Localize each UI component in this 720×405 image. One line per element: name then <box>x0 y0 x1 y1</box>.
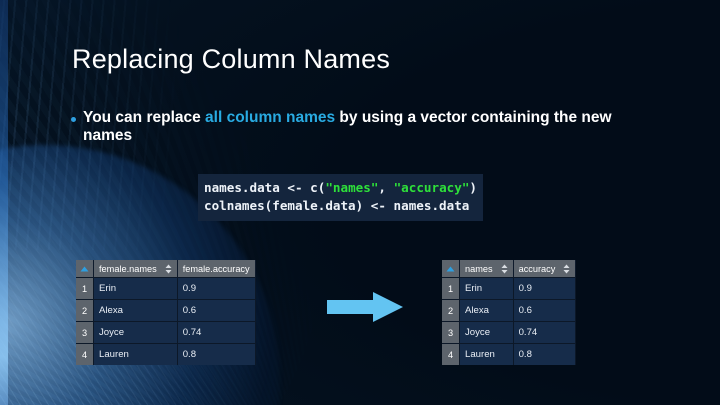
table-header-row: female.names female.accuracy <box>76 260 255 278</box>
cell-accuracy: 0.74 <box>513 322 576 344</box>
column-header-accuracy[interactable]: female.accuracy <box>177 260 255 278</box>
table-corner-sort-cell[interactable] <box>442 260 460 278</box>
data-table-after: names accuracy <box>442 260 576 365</box>
row-number: 2 <box>76 300 94 322</box>
row-number: 2 <box>442 300 460 322</box>
column-header-names[interactable]: names <box>460 260 514 278</box>
code-l1-string-names: "names" <box>325 180 378 195</box>
row-number: 4 <box>442 344 460 366</box>
bullet-text-highlight: all column names <box>205 109 335 126</box>
code-l1-close-paren: ) <box>469 180 477 195</box>
cell-accuracy: 0.74 <box>177 322 255 344</box>
cell-name: Erin <box>460 278 514 300</box>
cell-name: Lauren <box>94 344 178 366</box>
column-header-names-label: female.names <box>99 264 157 274</box>
sort-toggle-icon[interactable] <box>165 264 172 274</box>
bullet-dot-icon <box>71 117 76 122</box>
cell-accuracy: 0.9 <box>513 278 576 300</box>
table-corner-sort-cell[interactable] <box>76 260 94 278</box>
row-number: 3 <box>442 322 460 344</box>
slide-canvas: Replacing Column Names You can replace a… <box>0 0 720 405</box>
table-row[interactable]: 3 Joyce 0.74 <box>76 322 255 344</box>
cell-name: Alexa <box>94 300 178 322</box>
table-row[interactable]: 4 Lauren 0.8 <box>76 344 255 366</box>
cell-name: Joyce <box>460 322 514 344</box>
table-row[interactable]: 2 Alexa 0.6 <box>442 300 576 322</box>
table-row[interactable]: 1 Erin 0.9 <box>442 278 576 300</box>
column-header-accuracy-label: female.accuracy <box>183 264 250 274</box>
code-line-2: colnames(female.data) <- names.data <box>204 197 477 215</box>
row-number: 1 <box>442 278 460 300</box>
slide-title: Replacing Column Names <box>72 44 390 75</box>
code-l1-assign: names.data <- c( <box>204 180 325 195</box>
cell-name: Erin <box>94 278 178 300</box>
table-row[interactable]: 3 Joyce 0.74 <box>442 322 576 344</box>
cell-accuracy: 0.8 <box>177 344 255 366</box>
code-line-1: names.data <- c("names", "accuracy") <box>204 179 477 197</box>
column-header-accuracy-label: accuracy <box>519 264 556 274</box>
row-number: 1 <box>76 278 94 300</box>
sort-toggle-icon[interactable] <box>563 264 570 274</box>
cell-accuracy: 0.6 <box>177 300 255 322</box>
table-row[interactable]: 1 Erin 0.9 <box>76 278 255 300</box>
cell-name: Lauren <box>460 344 514 366</box>
code-snippet: names.data <- c("names", "accuracy")coln… <box>198 174 483 221</box>
sort-toggle-icon[interactable] <box>501 264 508 274</box>
row-number: 3 <box>76 322 94 344</box>
bullet-text: You can replace all column names by usin… <box>83 109 645 145</box>
column-header-accuracy[interactable]: accuracy <box>513 260 576 278</box>
background-left-edge-accent <box>0 0 8 405</box>
sort-ascending-icon <box>446 266 455 272</box>
transform-arrow-icon <box>327 290 403 324</box>
table-row[interactable]: 4 Lauren 0.8 <box>442 344 576 366</box>
table-row[interactable]: 2 Alexa 0.6 <box>76 300 255 322</box>
cell-accuracy: 0.6 <box>513 300 576 322</box>
bullet-text-before: You can replace <box>83 109 205 126</box>
column-header-names[interactable]: female.names <box>94 260 178 278</box>
row-number: 4 <box>76 344 94 366</box>
column-header-names-label: names <box>465 264 493 274</box>
data-table-before: female.names female.accuracy 1 Erin 0.9 <box>76 260 256 365</box>
cell-accuracy: 0.8 <box>513 344 576 366</box>
code-l1-comma: , <box>378 180 393 195</box>
sort-ascending-icon <box>80 266 89 272</box>
bullet-item: You can replace all column names by usin… <box>71 109 645 145</box>
code-l1-string-accuracy: "accuracy" <box>394 180 470 195</box>
cell-name: Alexa <box>460 300 514 322</box>
cell-name: Joyce <box>94 322 178 344</box>
cell-accuracy: 0.9 <box>177 278 255 300</box>
table-header-row: names accuracy <box>442 260 576 278</box>
